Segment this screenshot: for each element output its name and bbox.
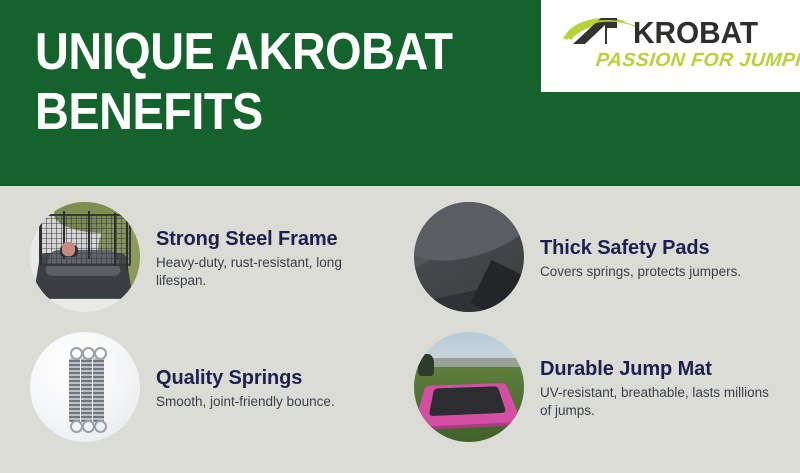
benefit-item: Strong Steel Frame Heavy-duty, rust-resi… <box>30 202 410 312</box>
infographic-poster: UNIQUE AKROBAT BENEFITS KROBAT PASSION F… <box>0 0 800 473</box>
benefit-item: Durable Jump Mat UV-resistant, breathabl… <box>414 332 794 442</box>
logo-panel: KROBAT PASSION FOR JUMPING <box>541 0 800 92</box>
logo-wordmark: KROBAT <box>633 17 758 48</box>
benefit-title: Strong Steel Frame <box>156 227 388 251</box>
logo-tagline: PASSION FOR JUMPING <box>595 50 800 72</box>
benefit-description: Covers springs, protects jumpers. <box>540 263 741 281</box>
benefit-text: Quality Springs Smooth, joint-friendly b… <box>156 364 335 411</box>
benefits-grid: Strong Steel Frame Heavy-duty, rust-resi… <box>0 186 800 473</box>
benefit-text: Thick Safety Pads Covers springs, protec… <box>540 234 741 281</box>
benefit-item: Thick Safety Pads Covers springs, protec… <box>414 202 794 312</box>
steel-frame-trampoline-photo <box>30 202 140 312</box>
safety-pad-closeup-photo <box>414 202 524 312</box>
benefit-text: Strong Steel Frame Heavy-duty, rust-resi… <box>156 225 388 290</box>
benefit-description: Smooth, joint-friendly bounce. <box>156 393 335 411</box>
benefit-title: Quality Springs <box>156 366 335 390</box>
benefit-description: UV-resistant, breathable, lasts millions… <box>540 384 772 420</box>
steel-springs-photo <box>30 332 140 442</box>
benefit-item: Quality Springs Smooth, joint-friendly b… <box>30 332 410 442</box>
benefit-text: Durable Jump Mat UV-resistant, breathabl… <box>540 355 772 420</box>
benefit-description: Heavy-duty, rust-resistant, long lifespa… <box>156 254 388 290</box>
benefit-title: Thick Safety Pads <box>540 236 741 260</box>
benefit-title: Durable Jump Mat <box>540 357 772 381</box>
logo: KROBAT PASSION FOR JUMPING <box>561 10 786 82</box>
pink-jump-mat-trampoline-photo <box>414 332 524 442</box>
page-title: UNIQUE AKROBAT BENEFITS <box>35 22 458 142</box>
